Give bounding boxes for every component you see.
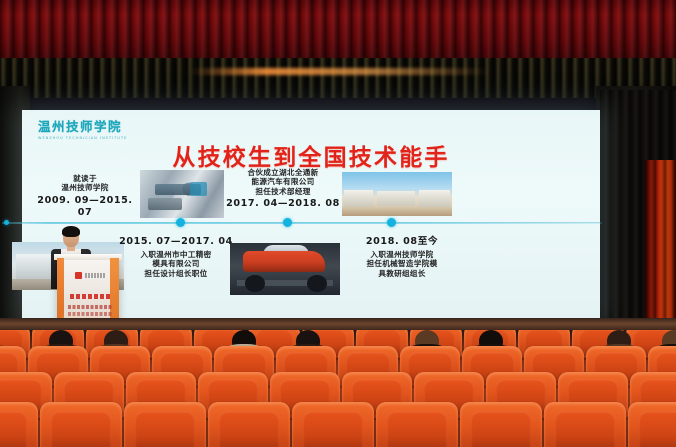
entry-body-line: 担任技术部经理 — [222, 187, 344, 196]
entry-body-line: 能源汽车有限公司 — [222, 177, 344, 186]
audience-seat — [124, 402, 206, 447]
podium-subtext — [68, 305, 112, 309]
audience-seat — [0, 402, 38, 447]
audience-seating — [0, 330, 676, 447]
entry-date: 2015. 07—2017. 04 — [118, 236, 234, 248]
timeline-entry-2009: 就读于 温州技师学院 2009. 09—2015. 07 — [30, 174, 140, 219]
photo-detail — [243, 251, 324, 272]
audience-seat — [544, 402, 626, 447]
speaker-hair — [62, 226, 80, 237]
entry-date: 2017. 04—2018. 08 — [222, 198, 344, 210]
photo-detail — [344, 190, 373, 208]
timeline-rail — [2, 222, 602, 224]
photo-detail — [245, 275, 265, 292]
timeline-entry-2018: 2018. 08至今 入职温州技师学院 担任机械智造学院模 具教研组组长 — [344, 236, 460, 278]
timeline-entry-2015: 2015. 07—2017. 04 入职温州市中工精密 模具有限公司 担任设计组… — [118, 236, 234, 278]
audience-seat — [376, 402, 458, 447]
entry-body-line: 担任设计组长职位 — [118, 269, 234, 278]
timeline-entry-2017: 合伙成立湖北全通新 能源汽车有限公司 担任技术部经理 2017. 04—2018… — [222, 168, 344, 210]
entry-date: 2009. 09—2015. 07 — [30, 195, 140, 219]
stage-light-glow — [190, 68, 490, 75]
podium-logo-text — [85, 273, 105, 278]
entry-date: 2018. 08至今 — [344, 236, 460, 248]
photo-mold-machine — [140, 170, 224, 218]
photo-detail — [377, 191, 414, 206]
podium-logo — [75, 272, 105, 279]
photo-detail — [419, 190, 450, 208]
podium-logo-mark — [75, 272, 82, 279]
photo-detail — [190, 182, 207, 196]
audience-seat — [628, 402, 676, 447]
entry-body-line: 温州技师学院 — [30, 183, 140, 192]
audience-seat — [292, 402, 374, 447]
stage-curtain-top — [0, 0, 676, 66]
stage-curtain-red-edge — [645, 160, 676, 338]
photo-campus-gate — [342, 172, 452, 216]
entry-body-line: 担任机械智造学院模 — [344, 259, 460, 268]
photo-electric-vehicle — [230, 243, 340, 295]
timeline-dot-2015 — [176, 218, 185, 227]
photo-detail — [307, 275, 327, 292]
auditorium-scene: 温州技师学院 WENZHOU TECHNICIAN INSTITUTE 从技校生… — [0, 0, 676, 447]
audience-seat — [460, 402, 542, 447]
audience-seat — [40, 402, 122, 447]
timeline-dot-origin — [4, 220, 9, 225]
logo-chinese-name: 温州技师学院 — [38, 116, 170, 135]
photo-detail — [342, 207, 452, 216]
entry-body-line: 模具有限公司 — [118, 259, 234, 268]
stage-valance — [0, 58, 676, 98]
audience-seat — [208, 402, 290, 447]
timeline-dot-2018 — [387, 218, 396, 227]
slide-title: 从技校生到全国技术能手 — [22, 138, 600, 172]
podium-headline-text — [70, 294, 110, 299]
timeline-dot-2017 — [283, 218, 292, 227]
entry-body-line: 具教研组组长 — [344, 269, 460, 278]
institute-logo: 温州技师学院 WENZHOU TECHNICIAN INSTITUTE — [38, 116, 170, 140]
photo-detail — [148, 198, 182, 210]
